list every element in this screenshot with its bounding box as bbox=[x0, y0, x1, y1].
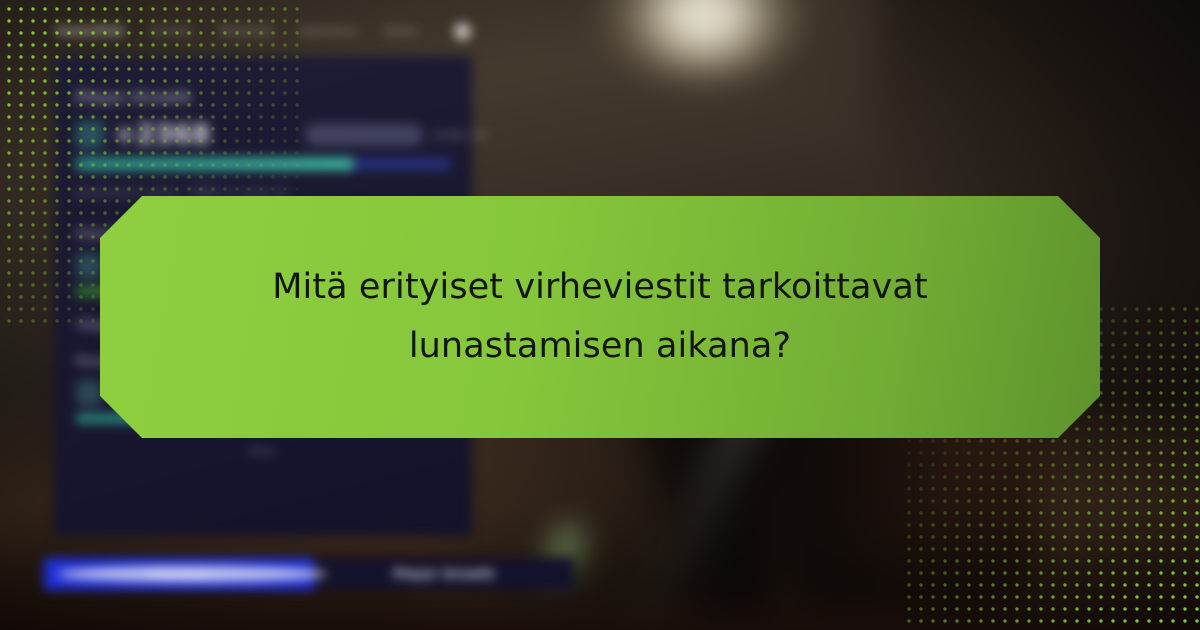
trophy-icon bbox=[76, 380, 102, 406]
nav-item-store[interactable]: Store bbox=[384, 24, 418, 38]
top-navigation-bar: GameHub Events Rewards Statistics Store bbox=[0, 14, 620, 48]
nav-brand[interactable]: GameHub bbox=[56, 24, 125, 38]
panel-footer-link[interactable]: More bbox=[76, 445, 450, 458]
question-banner: Mitä erityiset virheviestit tarkoittavat… bbox=[100, 196, 1100, 438]
question-text: Mitä erityiset virheviestit tarkoittavat… bbox=[250, 258, 950, 376]
xp-progress-fill bbox=[76, 158, 353, 170]
player-growth-tab[interactable]: Player Growth bbox=[314, 558, 574, 590]
nav-item-rewards[interactable]: Rewards bbox=[220, 24, 274, 38]
xp-progress-track bbox=[76, 158, 450, 170]
xp-level-label: LEVEL 24 bbox=[433, 129, 487, 142]
xp-summary-row: +2368 LEVEL 24 bbox=[76, 120, 450, 150]
bottom-action-bar: Advance Player Growth bbox=[44, 558, 574, 590]
coin-icon bbox=[57, 567, 327, 582]
screenshot-stage: GameHub Events Rewards Statistics Store … bbox=[0, 0, 1200, 630]
shield-icon bbox=[76, 253, 102, 279]
xp-value: +2368 bbox=[114, 120, 211, 150]
panel-title: Player Growth bbox=[76, 90, 450, 106]
nav-item-statistics[interactable]: Statistics bbox=[299, 24, 358, 38]
nav-item-events[interactable]: Events bbox=[151, 24, 194, 38]
advance-button[interactable]: Advance bbox=[44, 558, 314, 590]
avatar-icon[interactable] bbox=[454, 23, 471, 40]
xp-icon bbox=[76, 121, 104, 149]
xp-pill-badge bbox=[305, 124, 423, 146]
